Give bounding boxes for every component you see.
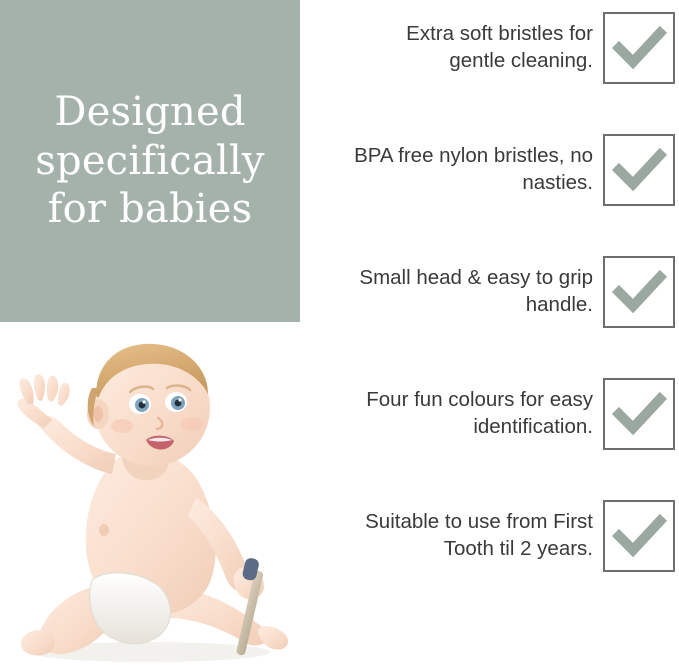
hero-title: Designed specifically for babies (21, 88, 278, 234)
checkbox-checked[interactable] (603, 500, 675, 572)
feature-row: BPA free nylon bristles, no nasties. (300, 122, 679, 218)
infographic-canvas: Designed specifically for babies (0, 0, 679, 665)
checkbox-checked[interactable] (603, 12, 675, 84)
left-column: Designed specifically for babies (0, 0, 300, 665)
feature-row: Four fun colours for easy identification… (300, 366, 679, 462)
feature-text: Suitable to use from First Tooth til 2 y… (345, 509, 603, 562)
checkbox-checked[interactable] (603, 134, 675, 206)
check-mark-icon (605, 136, 673, 204)
baby-photo-illustration (0, 330, 300, 665)
feature-text: Extra soft bristles for gentle cleaning. (345, 21, 603, 74)
check-mark-icon (605, 380, 673, 448)
check-mark-icon (605, 258, 673, 326)
feature-row: Extra soft bristles for gentle cleaning. (300, 0, 679, 96)
checkbox-checked[interactable] (603, 256, 675, 328)
feature-row: Small head & easy to grip handle. (300, 244, 679, 340)
check-mark-icon (605, 502, 673, 570)
feature-text: Small head & easy to grip handle. (345, 265, 603, 318)
feature-row: Suitable to use from First Tooth til 2 y… (300, 488, 679, 584)
feature-list: Extra soft bristles for gentle cleaning.… (300, 0, 679, 665)
hero-panel: Designed specifically for babies (0, 0, 300, 322)
feature-text: Four fun colours for easy identification… (345, 387, 603, 440)
product-photo (0, 330, 300, 665)
feature-text: BPA free nylon bristles, no nasties. (345, 143, 603, 196)
checkbox-checked[interactable] (603, 378, 675, 450)
check-mark-icon (605, 14, 673, 82)
